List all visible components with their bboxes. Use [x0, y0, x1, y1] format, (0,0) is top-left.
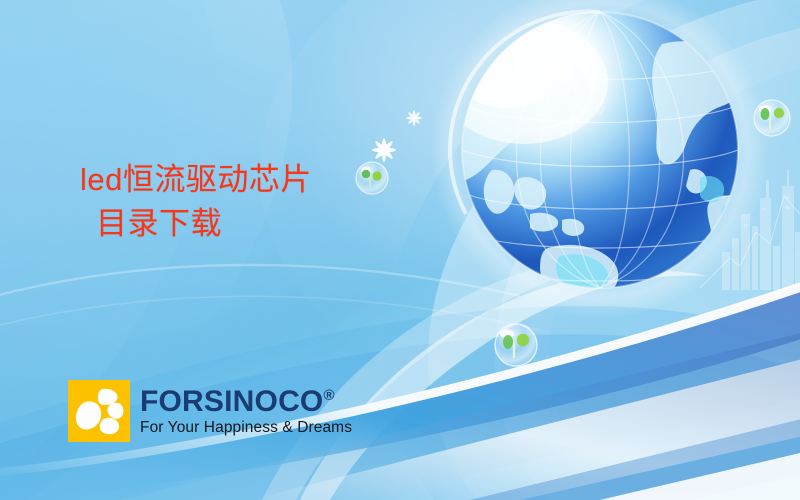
registered-trademark-symbol: ® — [323, 387, 334, 404]
logo-tagline: For Your Happiness & Dreams — [140, 420, 352, 436]
bubble-with-sprout — [495, 324, 537, 366]
promotional-banner: led恒流驱动芯片 目录下载 FORSINOCO® — [0, 0, 800, 500]
logo-wordmark-text: FORSINOCO — [140, 385, 323, 418]
logo-wordmark: FORSINOCO® — [140, 387, 352, 417]
headline-text: led恒流驱动芯片 目录下载 — [80, 158, 312, 246]
four-petal-pinwheel-mark — [68, 380, 130, 442]
company-logo[interactable]: FORSINOCO® For Your Happiness & Dreams — [68, 380, 352, 442]
headline-line-2: 目录下载 — [80, 202, 312, 246]
logo-wordmark-group: FORSINOCO® For Your Happiness & Dreams — [140, 387, 352, 436]
sparkle-star — [406, 110, 422, 126]
sparkle-star — [372, 138, 396, 162]
headline-line-1: led恒流驱动芯片 — [80, 158, 312, 202]
bubble-with-sprout — [754, 100, 790, 136]
bubble-with-sprout — [356, 162, 388, 194]
